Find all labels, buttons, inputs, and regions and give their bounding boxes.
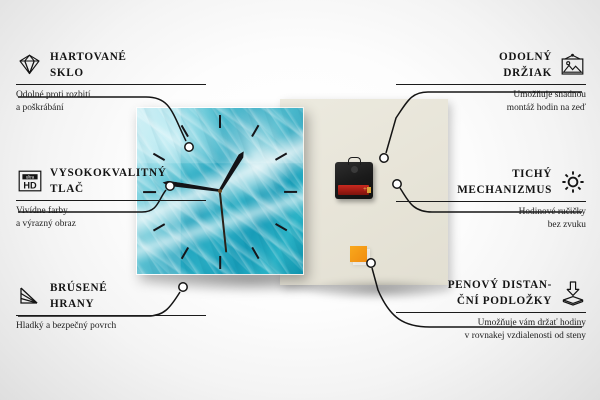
feature-head: TICHÝ MECHANIZMUS [396,167,586,198]
feature-head: ODOLNÝ DRŽIAK [396,50,586,81]
svg-text:HD: HD [23,180,37,190]
feature-description: Umožňuje vám držať hodiny v rovnakej vzd… [396,317,586,342]
movement-shaft [351,166,358,173]
hour-tick [284,191,297,193]
battery-plus-label: + [362,186,368,192]
hour-tick [219,256,221,269]
hanger-icon [348,157,361,165]
feature-head: BRÚSENÉ HRANY [16,281,206,312]
feature-tempered-glass: HARTOVANÉ SKLO Odolné proti rozbití a po… [16,50,206,114]
feature-divider [16,84,206,85]
feature-divider [16,200,206,201]
feature-description: Umožňuje snadnou montáž hodin na zeď [396,89,586,114]
feature-beveled-edges: BRÚSENÉ HRANY Hladký a bezpečný povrch [16,281,206,333]
feature-description: Hodinové ručičky bez zvuku [396,206,586,231]
feature-silent-mechanism: TICHÝ MECHANIZMUS Hodinové ručičky bez z… [396,167,586,231]
feature-title: VYSOKOKVALITNÝ TLAČ [50,166,166,197]
feature-description: Hladký a bezpečný povrch [16,320,206,333]
feature-foam-spacers: PENOVÝ DISTAN- ČNÍ PODLOŽKY Umožňuje vám… [396,278,586,342]
feature-title: TICHÝ MECHANIZMUS [457,167,552,198]
foam-spacer-pad [350,246,367,262]
picture-frame-icon [559,51,586,78]
feature-description: Vivídne farby a výrazný obraz [16,205,206,230]
feature-divider [16,315,206,316]
feature-title: ODOLNÝ DRŽIAK [499,50,552,81]
feature-divider [396,201,586,202]
diamond-icon [16,51,43,78]
gear-icon [559,168,586,195]
battery: + [338,185,369,195]
hour-tick [219,115,221,128]
feature-head: HARTOVANÉ SKLO [16,50,206,81]
ultra-hd-icon: ultra HD [16,167,43,194]
feature-high-quality-print: ultra HD VYSOKOKVALITNÝ TLAČ Vivídne far… [16,166,206,230]
svg-text:ultra: ultra [25,174,34,179]
feature-title: PENOVÝ DISTAN- ČNÍ PODLOŽKY [448,278,552,309]
foam-spacer-icon [559,279,586,306]
feature-durable-holder: ODOLNÝ DRŽIAK Umožňuje snadnou montáž ho… [396,50,586,114]
feature-head: PENOVÝ DISTAN- ČNÍ PODLOŽKY [396,278,586,309]
clock-movement: + [335,162,373,199]
feature-divider [396,84,586,85]
beveled-edges-icon [16,282,43,309]
feature-divider [396,312,586,313]
center-cap [218,189,222,193]
feature-description: Odolné proti rozbití a poškrábání [16,89,206,114]
feature-head: ultra HD VYSOKOKVALITNÝ TLAČ [16,166,206,197]
feature-title: HARTOVANÉ SKLO [50,50,127,81]
feature-title: BRÚSENÉ HRANY [50,281,107,312]
